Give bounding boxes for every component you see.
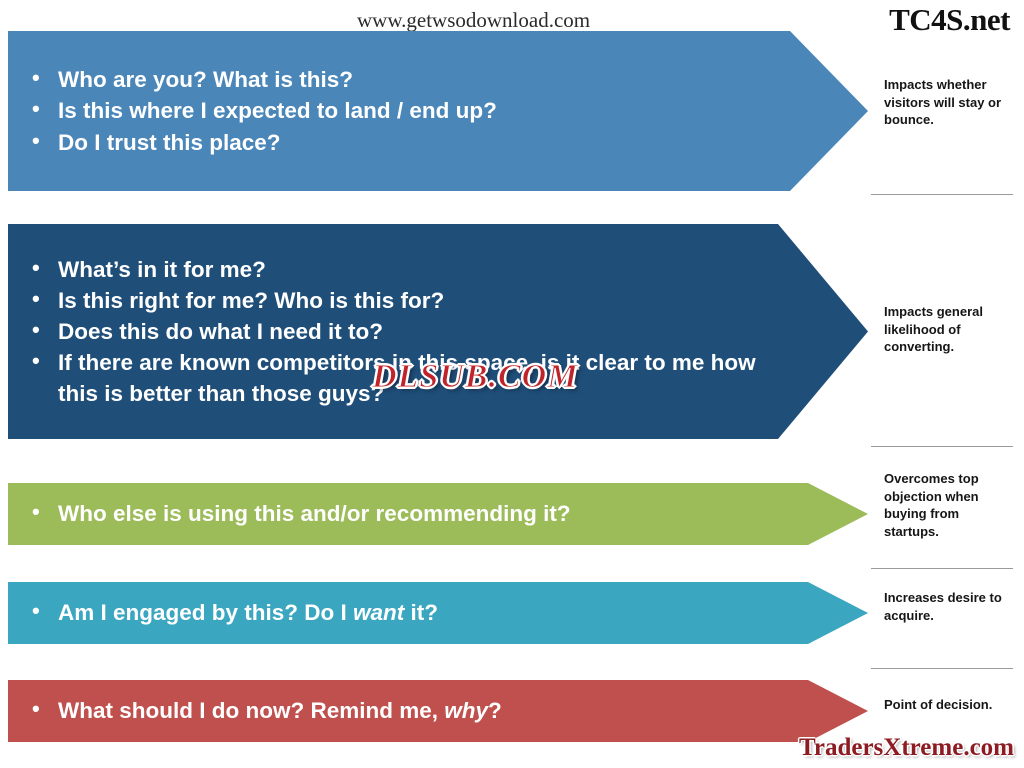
band-3-bullet-list: Who else is using this and/or recommendi… — [8, 498, 868, 529]
band-2: What’s in it for me? Is this right for m… — [8, 224, 868, 439]
band-1-bullet-list: Who are you? What is this? Is this where… — [8, 64, 868, 157]
band-4-bullet: Am I engaged by this? Do I want it? — [54, 597, 868, 628]
watermark-dlsub: DLSUB.COM — [372, 358, 578, 396]
note-divider — [871, 668, 1013, 669]
band-2-bullet: Is this right for me? Who is this for? — [54, 285, 758, 316]
band-2-arrow: What’s in it for me? Is this right for m… — [8, 224, 868, 439]
note-divider — [871, 194, 1013, 195]
band-1-note: Impacts whether visitors will stay or bo… — [884, 76, 1016, 129]
band-3-arrow: Who else is using this and/or recommendi… — [8, 483, 868, 545]
note-divider — [871, 446, 1013, 447]
band-3: Who else is using this and/or recommendi… — [8, 483, 868, 545]
band-4: Am I engaged by this? Do I want it? — [8, 582, 868, 644]
band-4-bullet-text: Am I engaged by this? Do I want it? — [58, 600, 438, 625]
watermark-top-url: www.getwsodownload.com — [357, 8, 590, 33]
band-1-bullet: Do I trust this place? — [54, 127, 868, 158]
band-4-bullet-list: Am I engaged by this? Do I want it? — [8, 597, 868, 628]
slide-canvas: www.getwsodownload.com TC4S.net Who are … — [0, 0, 1024, 768]
band-5-bullet-list: What should I do now? Remind me, why? — [8, 695, 868, 726]
band-4-arrow: Am I engaged by this? Do I want it? — [8, 582, 868, 644]
band-2-bullet: Does this do what I need it to? — [54, 316, 758, 347]
band-3-note: Overcomes top objection when buying from… — [884, 470, 1016, 540]
band-1-bullet: Who are you? What is this? — [54, 64, 868, 95]
band-5-note: Point of decision. — [884, 696, 1016, 714]
note-divider — [871, 568, 1013, 569]
band-5-bullet-text: What should I do now? Remind me, why? — [58, 698, 502, 723]
watermark-tradersxtreme: TradersXtreme.com — [799, 734, 1014, 762]
band-2-note: Impacts general likelihood of converting… — [884, 303, 1016, 356]
band-5-arrow: What should I do now? Remind me, why? — [8, 680, 868, 742]
band-2-bullet: What’s in it for me? — [54, 254, 758, 285]
band-1-arrow: Who are you? What is this? Is this where… — [8, 31, 868, 191]
band-1-bullet: Is this where I expected to land / end u… — [54, 95, 868, 126]
band-5: What should I do now? Remind me, why? — [8, 680, 868, 742]
band-5-bullet: What should I do now? Remind me, why? — [54, 695, 868, 726]
watermark-brand-tc4s: TC4S.net — [889, 2, 1010, 38]
band-1: Who are you? What is this? Is this where… — [8, 31, 868, 191]
band-4-note: Increases desire to acquire. — [884, 589, 1016, 624]
band-3-bullet: Who else is using this and/or recommendi… — [54, 498, 868, 529]
